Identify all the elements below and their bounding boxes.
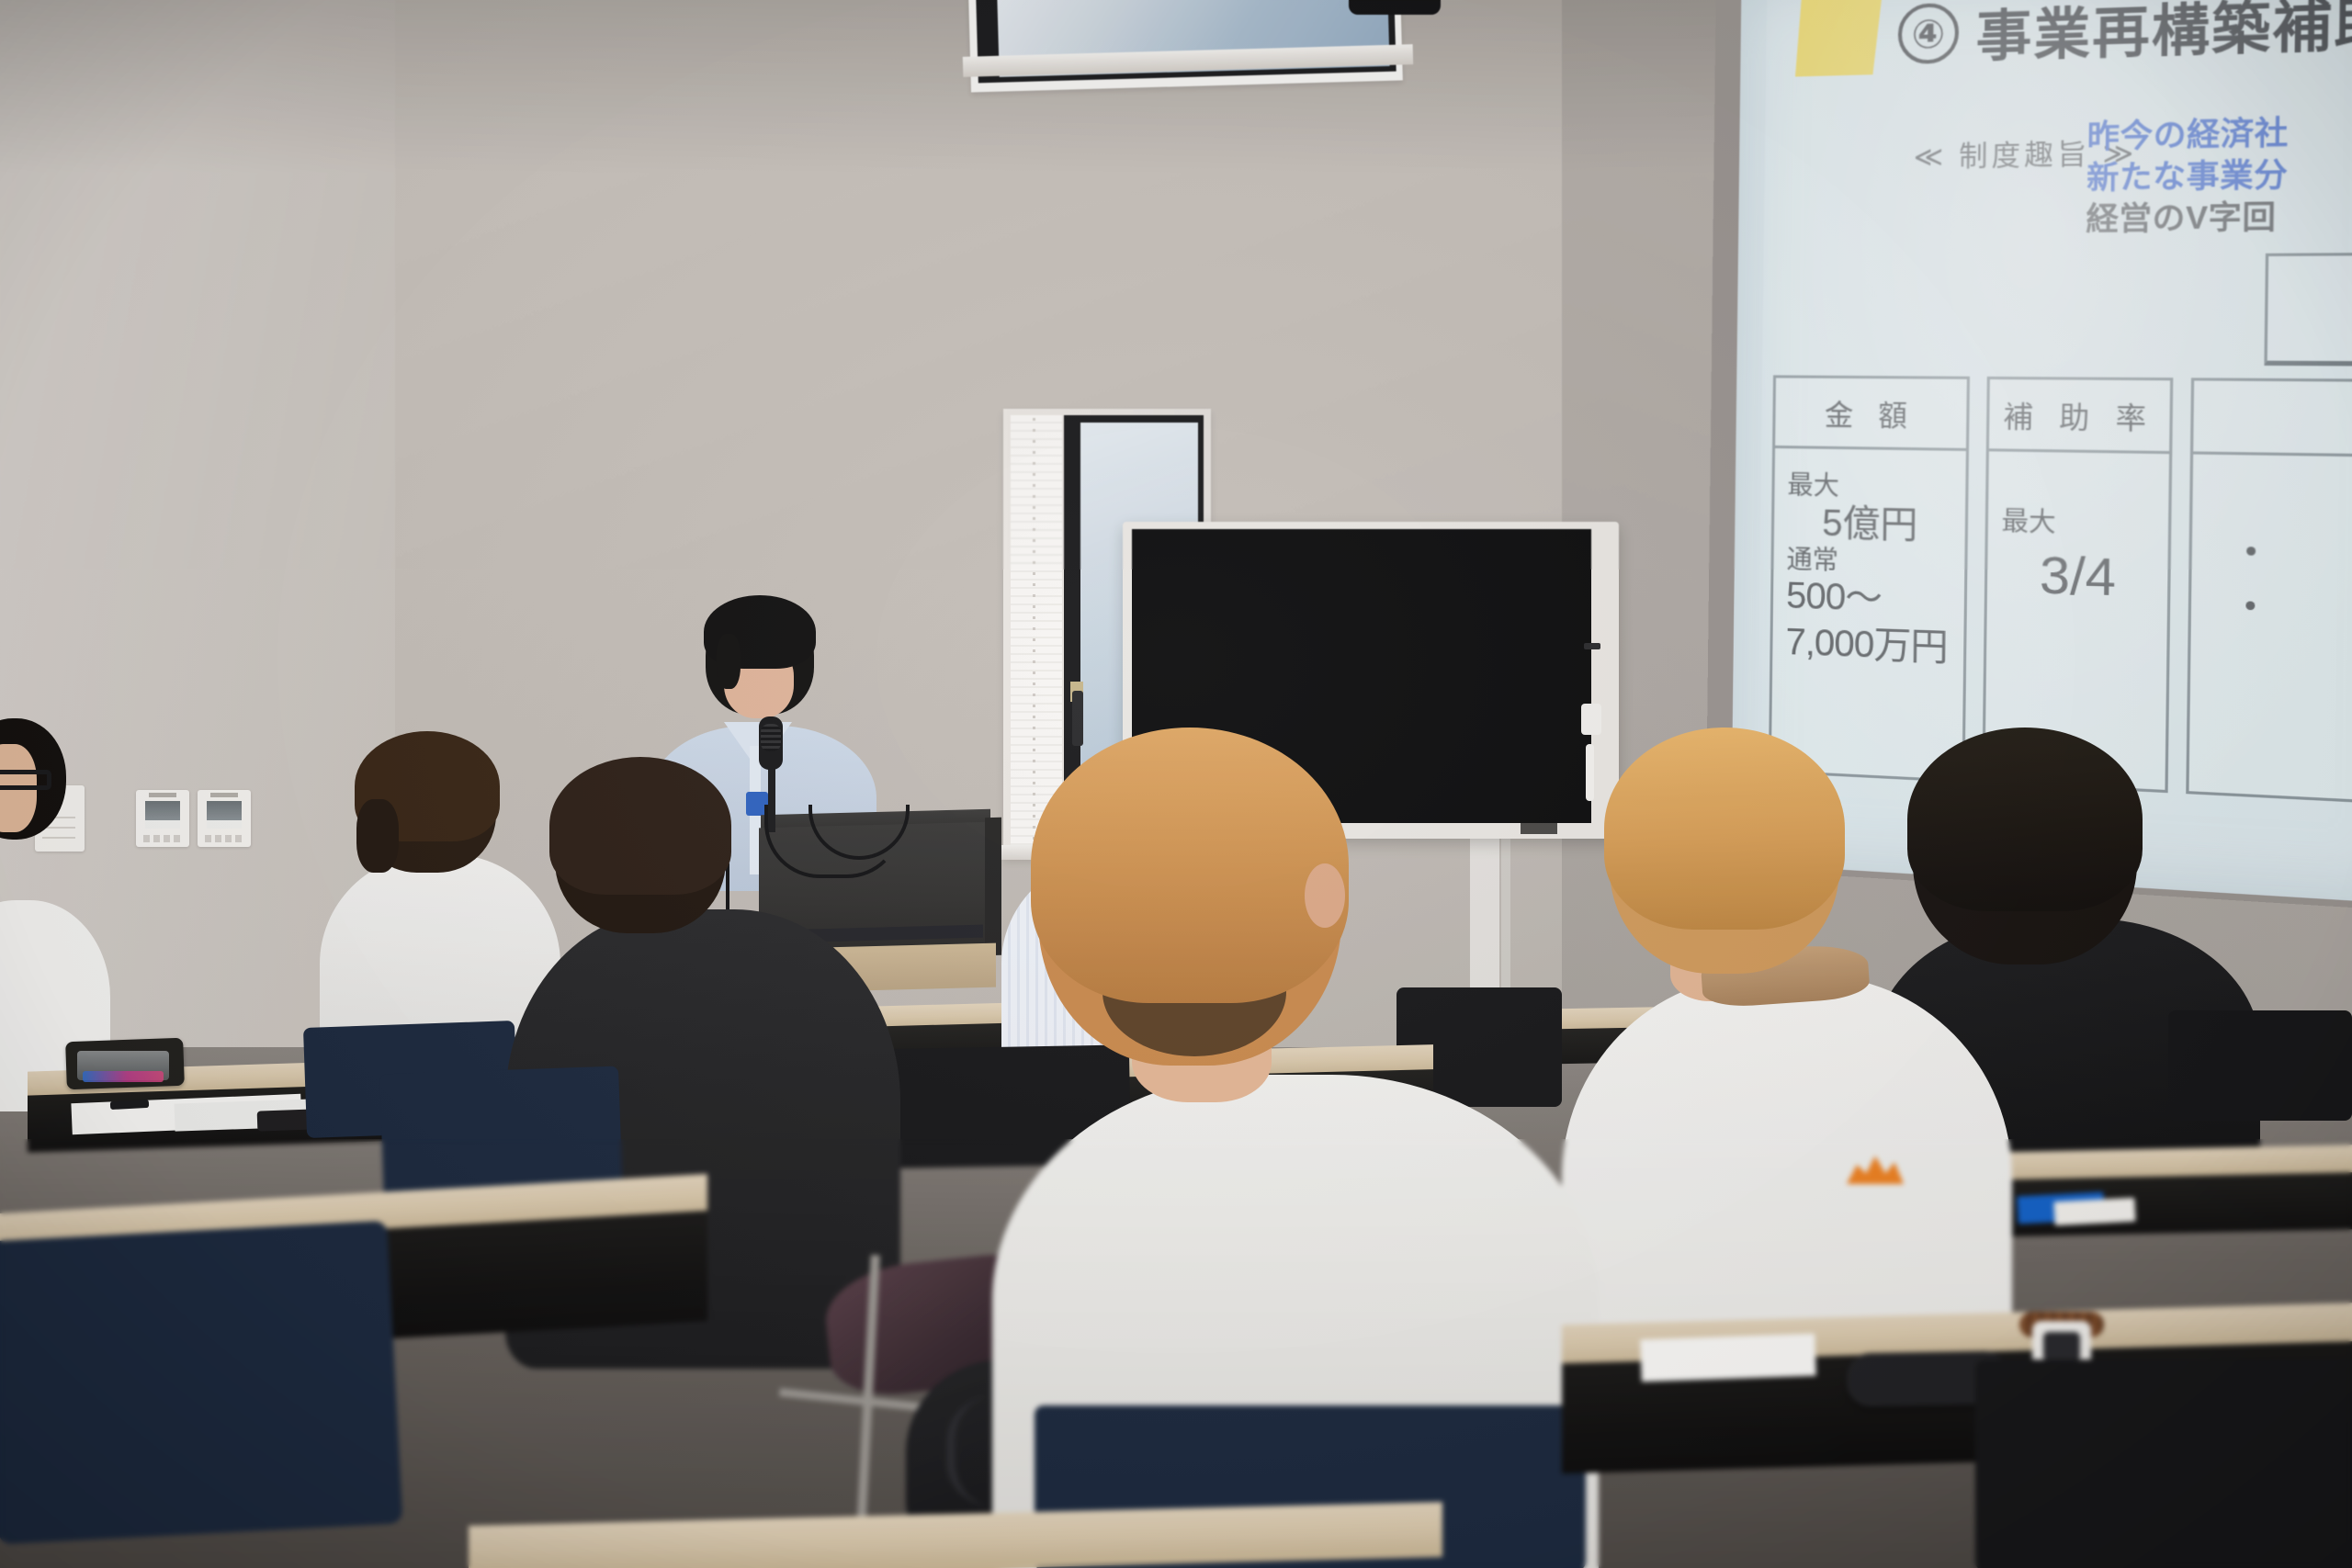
glasses-icon — [0, 770, 51, 790]
attendee-center-dark-hair — [549, 757, 731, 895]
column-header-rate: 補 助 率 — [1989, 379, 2170, 454]
thermostat-brand-label — [149, 793, 176, 797]
thermostat-screen — [207, 801, 242, 829]
rate-max-value: 3/4 — [2000, 543, 2155, 609]
attendee-right-black-hair — [1907, 728, 2143, 911]
amount-normal-value: 500〜7,000万円 — [1785, 572, 1953, 671]
notes-bullet-1 — [2246, 536, 2352, 540]
thermostat-panel-1[interactable] — [136, 790, 189, 847]
attendee-left-white-sideburn — [356, 799, 399, 873]
folder-paper[interactable] — [2053, 1198, 2135, 1226]
attendee-foreground-hair — [1031, 728, 1349, 1003]
purpose-line-2: 新たな事業分 — [2086, 151, 2352, 199]
podium-side — [985, 818, 1001, 955]
chair-bottom-left[interactable] — [0, 1221, 402, 1545]
notes-bullet-2 — [2246, 592, 2352, 596]
wristwatch-dial — [2043, 1332, 2080, 1361]
thermostat-buttons[interactable] — [143, 835, 182, 842]
slide-title-text: 事業再構築補助 — [1975, 0, 2352, 72]
notes-bullet-list — [2206, 503, 2352, 541]
slide-top-right-box — [2264, 252, 2352, 367]
column-body-amount: 最大 5億円 通常 500〜7,000万円 — [1771, 448, 1966, 780]
thermostat-panel-2[interactable] — [198, 790, 251, 847]
window-blind-cord — [1033, 418, 1035, 850]
window-blind — [1011, 415, 1062, 852]
window-handle-icon[interactable] — [1072, 691, 1083, 746]
slide-number: ④ — [1898, 3, 1960, 65]
chair-right-3[interactable] — [2168, 1010, 2352, 1121]
presenter-sideburn — [717, 634, 741, 689]
purpose-line-1: 昨今の経済社 — [2086, 107, 2352, 158]
microphone-grille — [761, 724, 781, 751]
column-body-notes — [2189, 455, 2352, 803]
amount-max-label: 最大 — [1787, 472, 1954, 502]
attendee-northface-hair — [1604, 728, 1845, 930]
amount-max-value: 5億円 — [1822, 499, 1954, 550]
stylus-pen-icon[interactable] — [1586, 744, 1594, 801]
thermostat-brand-label — [210, 793, 238, 797]
display-port-icon — [1521, 823, 1557, 834]
seminar-room-photo: ④ 事業再構築補助 ≪ 制度趣旨 ≫ 昨今の経済社 新たな事業分 経営のV字回 … — [0, 0, 2352, 1568]
column-header-amount: 金 額 — [1775, 378, 1967, 451]
ceiling-speaker-icon — [1349, 0, 1441, 15]
slide-accent-block — [1795, 0, 1884, 77]
slide-purpose-body: 昨今の経済社 新たな事業分 経営のV字回 — [2086, 107, 2352, 240]
chair-front-right[interactable] — [1975, 1359, 2352, 1568]
attendee-foreground-ear — [1305, 863, 1345, 928]
slide-title-row: ④ 事業再構築補助 — [1897, 0, 2352, 80]
display-sensor-icon — [1584, 643, 1600, 649]
display-power-button[interactable] — [1581, 704, 1601, 735]
slide-table-column-notes — [2186, 378, 2352, 806]
thermostat-buttons[interactable] — [205, 835, 243, 842]
rate-max-label: 最大 — [2001, 501, 2156, 542]
purpose-line-3: 経営のV字回 — [2086, 193, 2352, 240]
slide-table-column-amount: 金 額 最大 5億円 通常 500〜7,000万円 — [1769, 375, 1970, 783]
thermostat-screen — [145, 801, 180, 829]
column-header-notes — [2193, 380, 2352, 457]
pens-inside-case — [83, 1071, 164, 1082]
paper-sheet-front-right[interactable] — [1640, 1334, 1815, 1382]
